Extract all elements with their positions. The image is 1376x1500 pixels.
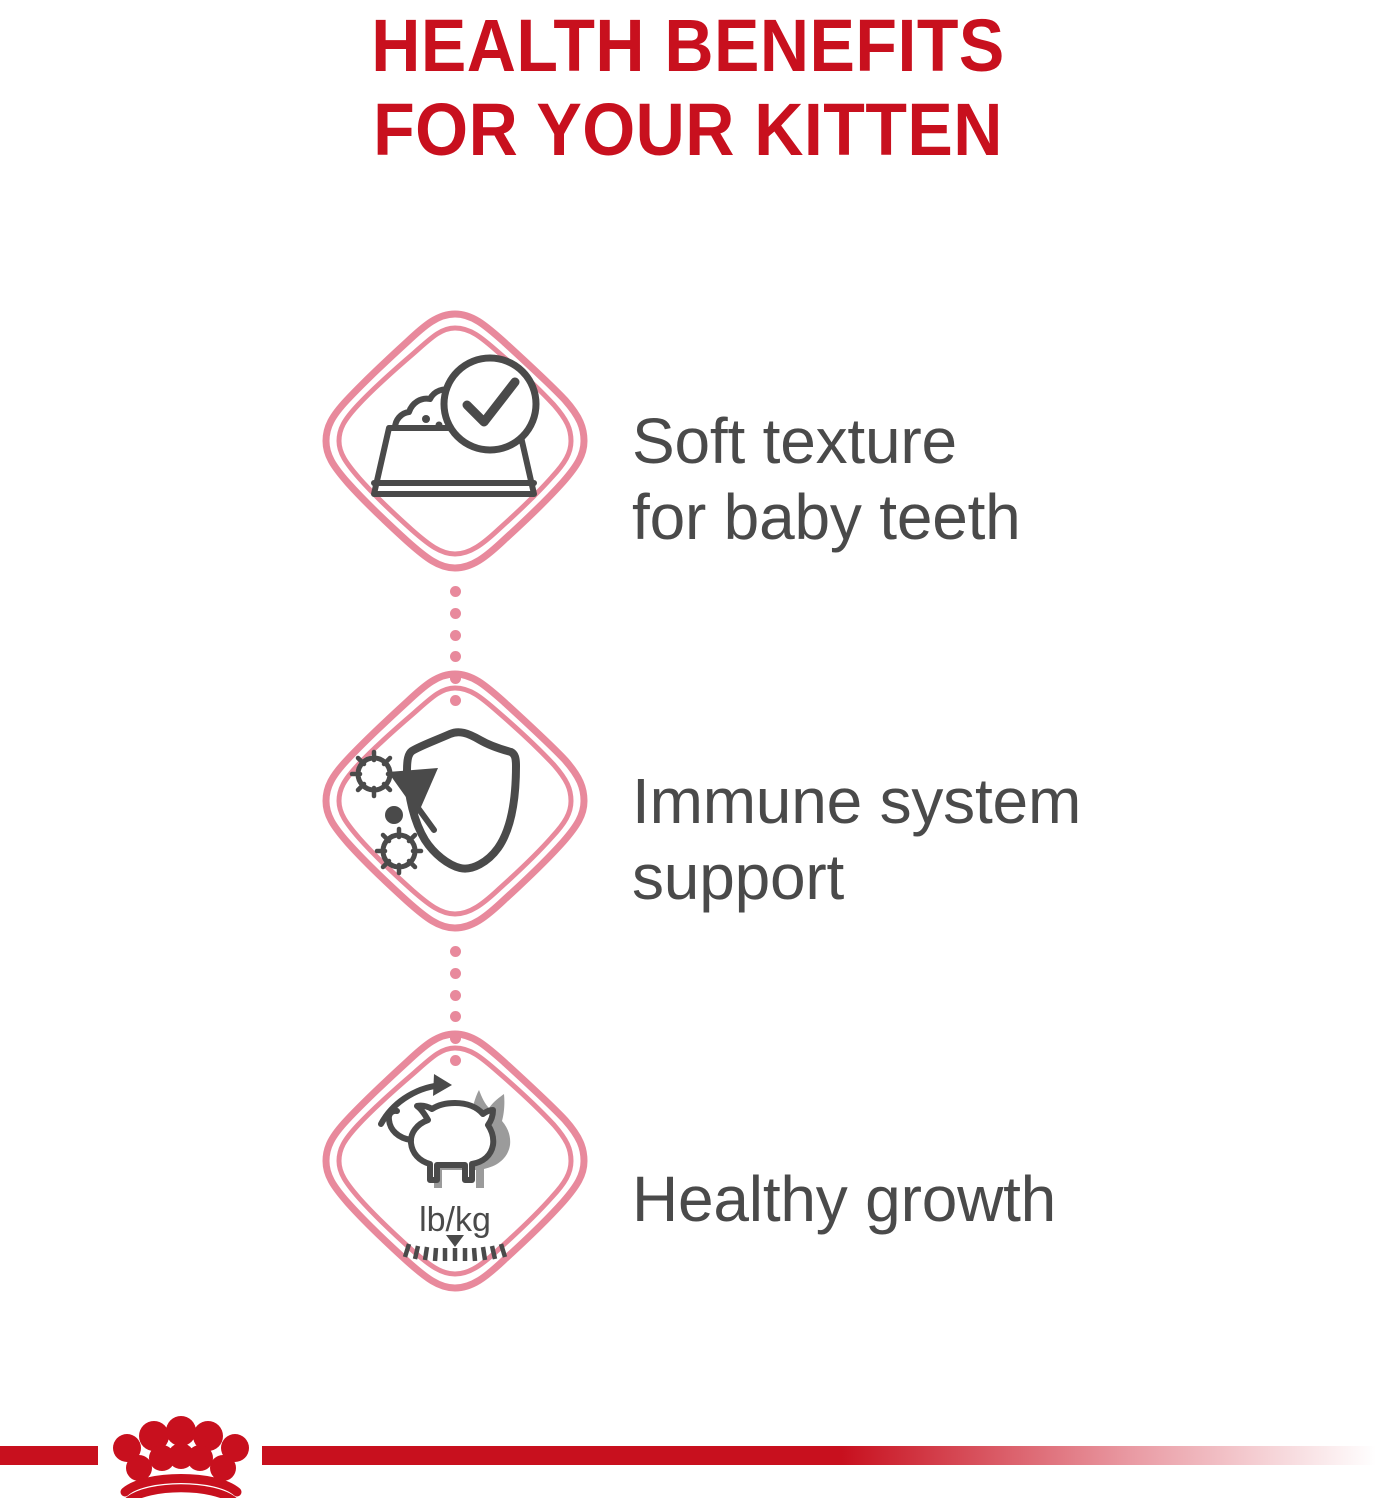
benefits-list: Soft texture for baby teeth <box>0 300 1376 1380</box>
connector-dot <box>450 946 461 957</box>
benefit-item-soft-texture: Soft texture for baby teeth <box>0 300 1376 660</box>
benefit-label-line-1: Soft texture <box>632 404 1332 480</box>
shield-germs-icon <box>322 668 588 934</box>
growing-cat-scale-icon: lb/kg <box>322 1028 588 1294</box>
benefit-label-healthy-growth: Healthy growth <box>632 1162 1332 1238</box>
benefit-label-immune-support: Immune system support <box>632 764 1332 915</box>
benefit-item-immune-support: Immune system support <box>0 660 1376 1020</box>
benefit-label-line-1: Immune system <box>632 764 1332 840</box>
footer-bar-left <box>0 1446 98 1465</box>
page-title-line-1: HEALTH BENEFITS <box>55 4 1321 88</box>
connector-dot <box>450 586 461 597</box>
connector-dot <box>450 630 461 641</box>
page-title: HEALTH BENEFITS FOR YOUR KITTEN <box>0 4 1376 172</box>
benefit-item-healthy-growth: lb/kg Healt <box>0 1020 1376 1380</box>
benefit-label-line-2: support <box>632 840 1332 916</box>
benefit-label-line-1: Healthy growth <box>632 1162 1332 1238</box>
benefit-label-line-2: for baby teeth <box>632 480 1332 556</box>
footer-bar-right <box>262 1446 1376 1465</box>
connector-dot <box>450 968 461 979</box>
scale-unit-label: lb/kg <box>419 1201 491 1239</box>
benefit-label-soft-texture: Soft texture for baby teeth <box>632 404 1332 555</box>
connector-dot <box>450 608 461 619</box>
footer <box>0 1400 1376 1500</box>
connector-dot <box>450 990 461 1001</box>
page-title-line-2: FOR YOUR KITTEN <box>55 88 1321 172</box>
food-bowl-check-icon <box>322 308 588 574</box>
royal-canin-crown-logo <box>95 1406 267 1498</box>
